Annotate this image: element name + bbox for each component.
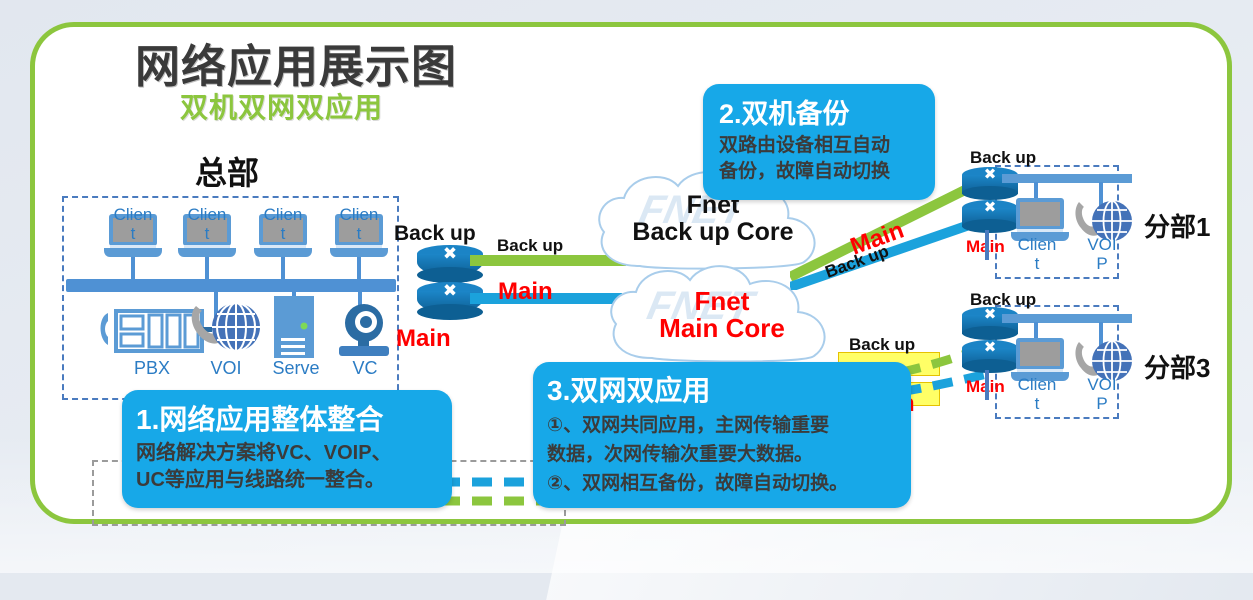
callout-1-body-line2: UC等应用与线路统一整合。: [122, 467, 452, 494]
client-label: Clien t: [253, 205, 313, 243]
branch3-bus-line: [1002, 314, 1132, 323]
client-label-line2: t: [357, 224, 362, 243]
callout-2[interactable]: 2.双机备份 双路由设备相互自动 备份，故障自动切换: [703, 84, 935, 200]
voip-globe-icon: [188, 300, 264, 358]
branch3-router-stub: [985, 370, 989, 400]
branch1-router-backup-icon: ✖: [962, 167, 1018, 201]
callout-3-body-line1: ①、双网共同应用，主网传输重要: [533, 411, 911, 440]
client-label-line2: t: [1035, 254, 1040, 273]
client-label-line1: Clien: [264, 205, 303, 224]
hq-backup-link-label: Back up: [497, 236, 563, 256]
device-label-voip: VOI: [186, 358, 266, 379]
device-label-vc: VC: [325, 358, 405, 379]
callout-1-title: 1.网络应用整体整合: [122, 390, 452, 440]
callout-1-body-line1: 网络解决方案将VC、VOIP、: [122, 440, 452, 467]
server-icon: [272, 296, 316, 360]
device-label-pbx: PBX: [112, 358, 192, 379]
cloud-label-line1: Fnet: [695, 286, 750, 316]
branch1-voip-label: VOI P: [1072, 235, 1132, 273]
voip-label-line1: VOI: [1087, 235, 1116, 254]
callout-3[interactable]: 3.双网双应用 ①、双网共同应用，主网传输重要 数据，次网传输次重要大数据。 ②…: [533, 362, 911, 508]
client-label: Clien t: [177, 205, 237, 243]
branch1-name-label: 分部1: [1144, 207, 1210, 244]
callout-3-title: 3.双网双应用: [533, 362, 911, 411]
client-label-line2: t: [131, 224, 136, 243]
client-label: Clien t: [329, 205, 389, 243]
device-label-server: Serve: [256, 358, 336, 379]
main-core-cloud-label: Fnet Main Core: [617, 288, 827, 342]
branch3-router-backup-icon: ✖: [962, 307, 1018, 341]
branch3-router-main-icon: ✖: [962, 340, 1018, 374]
client-label-line1: Clien: [188, 205, 227, 224]
branch3-voip-label: VOI P: [1072, 375, 1132, 413]
diagram-canvas: 网络应用展示图 双机双网双应用 总部 Clien t Clien t Clien…: [0, 0, 1253, 573]
callout-2-body-line2: 备份，故障自动切换: [703, 159, 935, 185]
hq-main-link-label: Main: [498, 278, 553, 306]
client-label-line1: Clien: [1018, 375, 1057, 394]
branch1-router-stub: [985, 230, 989, 260]
callout-2-body-line1: 双路由设备相互自动: [703, 133, 935, 159]
client-label-line1: Clien: [1018, 235, 1057, 254]
branch3-client-label: Clien t: [1007, 375, 1067, 413]
voip-label-line2: P: [1096, 394, 1107, 413]
callout-3-body-line2: 数据，次网传输次重要大数据。: [533, 440, 911, 469]
voip-label-line2: P: [1096, 254, 1107, 273]
client-label-line2: t: [1035, 394, 1040, 413]
client-label-line2: t: [281, 224, 286, 243]
headquarters-label: 总部: [195, 148, 259, 194]
branch3-name-label: 分部3: [1144, 348, 1210, 385]
hq-router-backup-label: Back up: [394, 222, 476, 246]
vc-camera-icon: [334, 302, 394, 358]
branch1-bus-line: [1002, 174, 1132, 183]
callout-3-body-line3: ②、双网相互备份，故障自动切换。: [533, 469, 911, 498]
client-label: Clien t: [103, 205, 163, 243]
page-subtitle: 双机双网双应用: [180, 86, 383, 126]
branch1-client-label: Clien t: [1007, 235, 1067, 273]
client-label-line2: t: [205, 224, 210, 243]
voip-label-line1: VOI: [1087, 375, 1116, 394]
cloud-label-line2: Main Core: [659, 313, 785, 343]
callout-2-title: 2.双机备份: [703, 84, 935, 133]
branch3-backup-link-label: Back up: [849, 335, 915, 355]
client-label-line1: Clien: [340, 205, 379, 224]
branch1-router-backup-label: Back up: [970, 148, 1036, 168]
backup-core-cloud-label: Fnet Back up Core: [608, 192, 818, 246]
callout-1[interactable]: 1.网络应用整体整合 网络解决方案将VC、VOIP、 UC等应用与线路统一整合。: [122, 390, 452, 508]
branch1-router-main-icon: ✖: [962, 200, 1018, 234]
client-label-line1: Clien: [114, 205, 153, 224]
cloud-label-line2: Back up Core: [632, 218, 793, 246]
headquarters-bus-line: [66, 279, 396, 292]
hq-router-main-label: Main: [396, 325, 451, 353]
